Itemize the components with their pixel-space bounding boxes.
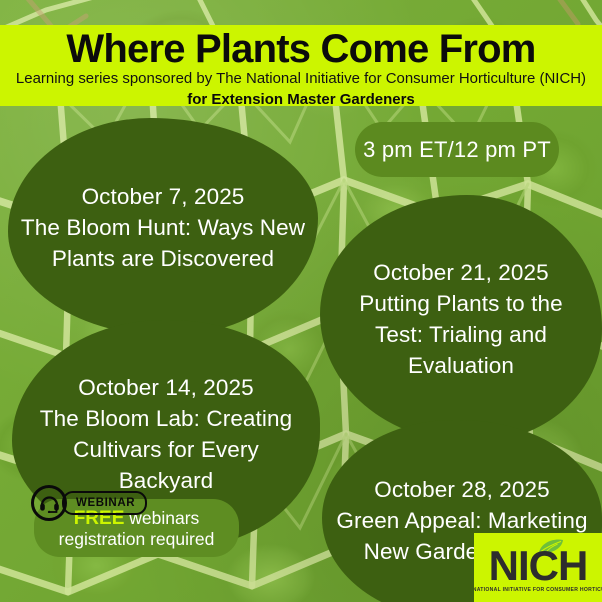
session-title-line: Putting Plants to the	[359, 288, 562, 319]
session-card-october-7[interactable]: October 7, 2025 The Bloom Hunt: Ways New…	[8, 118, 318, 336]
webinar-badge: WEBINAR	[31, 485, 147, 521]
session-text: October 7, 2025 The Bloom Hunt: Ways New…	[11, 181, 315, 274]
session-date: October 7, 2025	[21, 181, 305, 212]
session-title-line: Cultivars for Every	[40, 434, 292, 465]
nich-wordmark: NICH	[489, 545, 588, 587]
session-title-line: Evaluation	[359, 350, 562, 381]
promotional-poster: Where Plants Come From Learning series s…	[0, 0, 602, 602]
session-time-pill: 3 pm ET/12 pm PT	[355, 122, 559, 177]
nich-logo[interactable]: NICH NATIONAL INITIATIVE FOR CONSUMER HO…	[474, 533, 602, 602]
session-date: October 14, 2025	[40, 372, 292, 403]
session-title-line: Test: Trialing and	[359, 319, 562, 350]
audience-line: for Extension Master Gardeners	[0, 90, 602, 109]
session-date: October 21, 2025	[359, 257, 562, 288]
series-subtitle: Learning series sponsored by The Nationa…	[5, 70, 598, 87]
session-title-line: The Bloom Hunt: Ways New	[21, 212, 305, 243]
headset-icon	[31, 485, 67, 521]
webinar-chip: WEBINAR	[62, 491, 147, 515]
session-title-line: The Bloom Lab: Creating	[40, 403, 292, 434]
session-text: October 21, 2025 Putting Plants to the T…	[349, 257, 572, 381]
nich-tagline: NATIONAL INITIATIVE FOR CONSUMER HORTICU…	[474, 587, 602, 593]
header-banner: Where Plants Come From Learning series s…	[0, 25, 602, 106]
session-text: October 14, 2025 The Bloom Lab: Creating…	[30, 372, 302, 496]
session-title-line: Plants are Discovered	[21, 243, 305, 274]
webinar-chip-label: WEBINAR	[76, 497, 135, 509]
session-time-label: 3 pm ET/12 pm PT	[363, 137, 551, 163]
session-date: October 28, 2025	[336, 474, 587, 505]
registration-required-label: registration required	[34, 529, 239, 550]
session-title-line: Green Appeal: Marketing	[336, 505, 587, 536]
page-title: Where Plants Come From	[0, 28, 602, 70]
